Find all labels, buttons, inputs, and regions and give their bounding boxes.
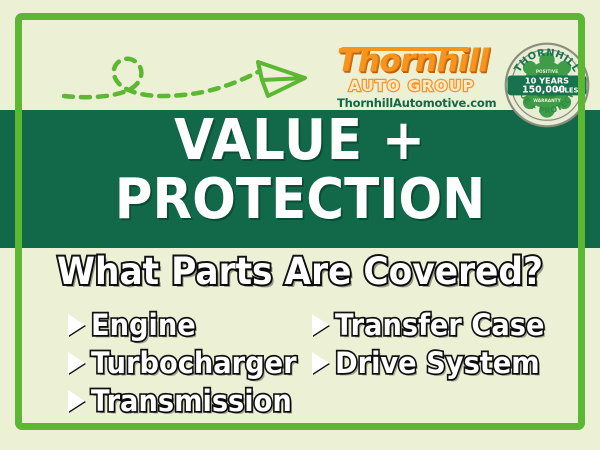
list-item-label: Turbocharger — [91, 348, 297, 379]
list-item-label: Transmission — [91, 386, 292, 417]
list-item: Transfer Case — [312, 306, 558, 344]
triangle-bullet-icon — [312, 352, 329, 374]
triangle-bullet-icon — [312, 314, 329, 336]
triangle-bullet-icon — [68, 352, 85, 374]
header-zone: Thornhill AUTO GROUP ThornhillAutomotive… — [22, 20, 578, 110]
brand-division: AUTO GROUP — [337, 78, 487, 95]
headline-line-2: PROTECTION — [24, 170, 576, 230]
subheadline: What Parts Are Covered? — [21, 252, 579, 292]
triangle-bullet-icon — [68, 390, 85, 412]
list-item: Turbocharger — [68, 344, 310, 382]
covered-parts-column-left: Engine Turbocharger Transmission — [68, 306, 310, 420]
list-item-label: Engine — [91, 310, 196, 341]
seal-small-top: POSITIVE — [536, 69, 558, 75]
list-item-label: Drive System — [335, 348, 540, 379]
list-item-label: Transfer Case — [335, 310, 544, 341]
brand-name: Thornhill — [337, 46, 487, 77]
seal-banner-years: 10 YEARS — [525, 75, 569, 85]
list-item: Drive System — [312, 344, 558, 382]
covered-parts-lists: Engine Turbocharger Transmission Transfe… — [24, 306, 576, 424]
brand-logo: Thornhill AUTO GROUP ThornhillAutomotive… — [337, 46, 487, 110]
seal-small-bottom: WARRANTY — [533, 98, 561, 104]
list-item: Engine — [68, 306, 310, 344]
headline-line-1: VALUE + — [24, 112, 576, 170]
dashed-path-arrow-icon — [62, 34, 307, 117]
list-item: Transmission — [68, 382, 310, 420]
seal-banner-miles-unit: MILES — [555, 87, 578, 95]
logo-t-bar — [341, 47, 469, 51]
triangle-bullet-icon — [68, 314, 85, 336]
main-headline: VALUE + PROTECTION — [0, 112, 600, 230]
covered-parts-column-right: Transfer Case Drive System — [312, 306, 558, 382]
promo-poster: Thornhill AUTO GROUP ThornhillAutomotive… — [0, 0, 600, 450]
